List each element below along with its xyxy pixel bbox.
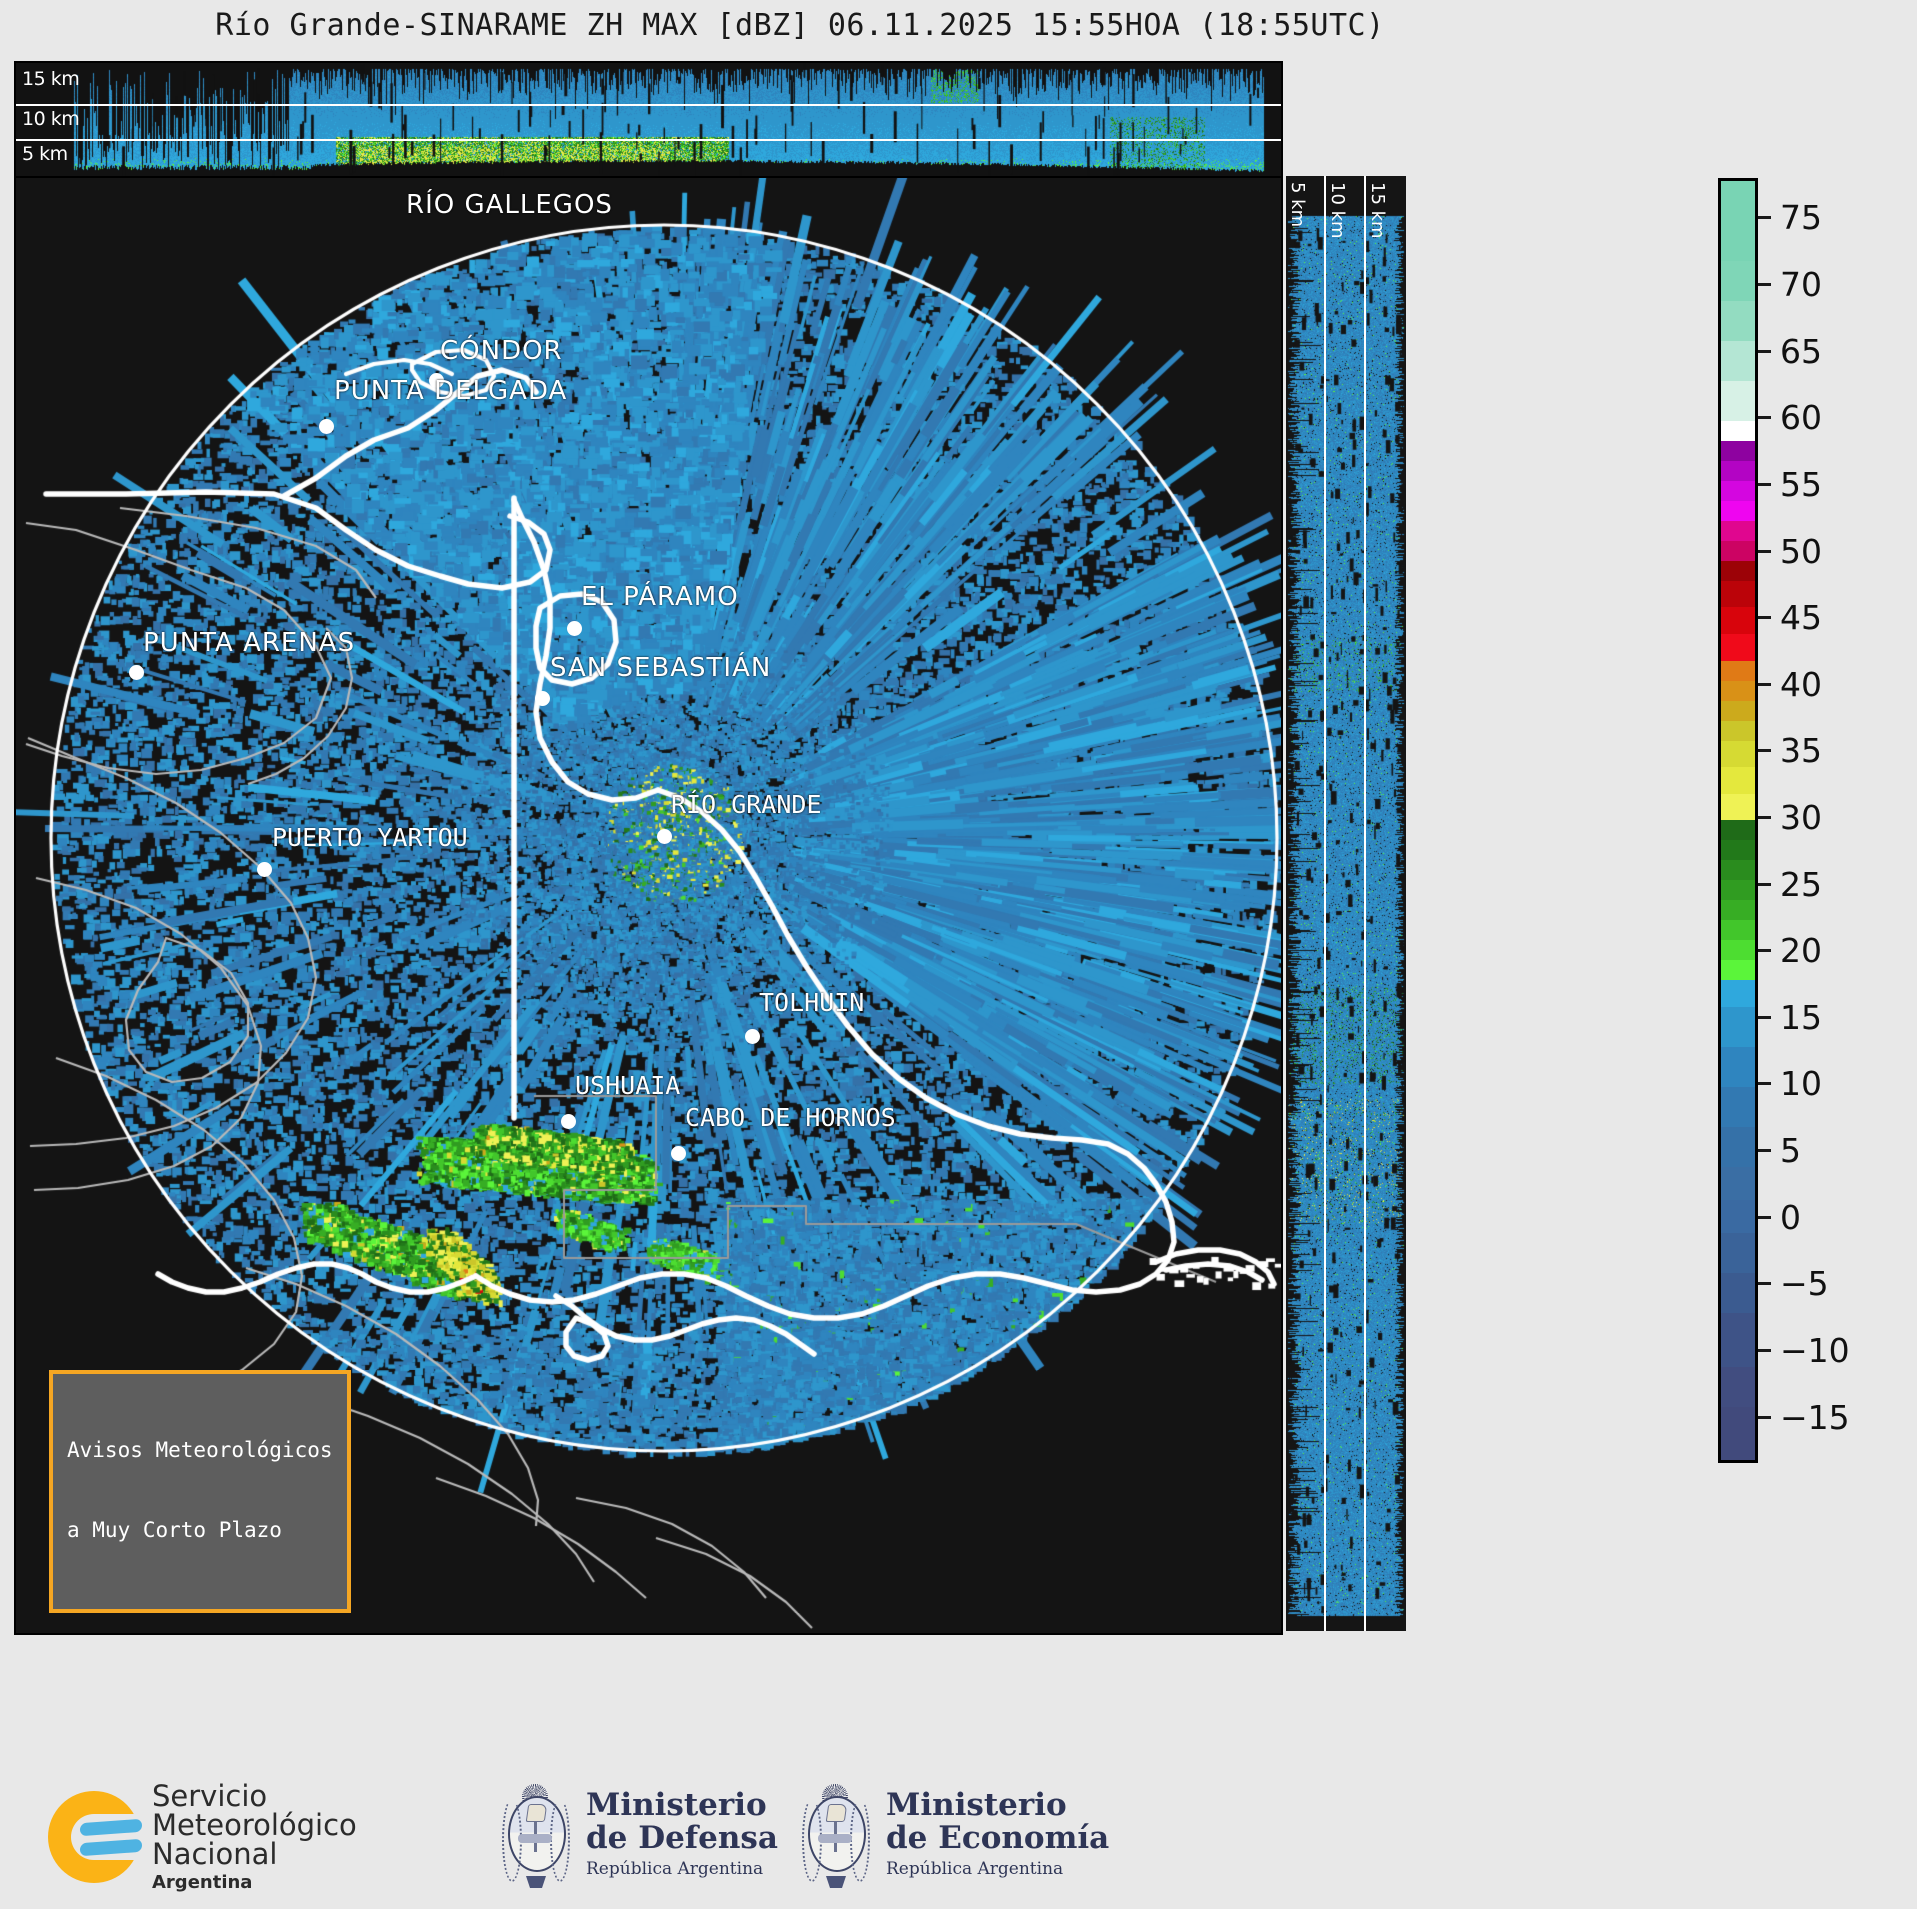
colorbar-segment bbox=[1721, 900, 1755, 920]
colorbar-segment bbox=[1721, 581, 1755, 608]
argentina-coat-of-arms-icon bbox=[800, 1778, 872, 1890]
colorbar-segment bbox=[1721, 980, 1755, 1007]
city-marker-dot bbox=[319, 419, 334, 434]
colorbar-segment bbox=[1721, 820, 1755, 840]
colorbar-segment bbox=[1721, 940, 1755, 960]
colorbar-segment bbox=[1721, 521, 1755, 541]
economia-sub: República Argentina bbox=[886, 1861, 1109, 1879]
colorbar bbox=[1718, 178, 1758, 1463]
strip-gridline-1 bbox=[1324, 176, 1326, 1631]
city-marker-dot bbox=[671, 1146, 686, 1161]
colorbar-segment bbox=[1721, 1007, 1755, 1047]
city-marker-dot bbox=[561, 1114, 576, 1129]
colorbar-segment bbox=[1721, 1047, 1755, 1087]
smn-logo-icon bbox=[48, 1791, 140, 1883]
logo-ministerio-de-defensa: Ministerio de Defensa República Argentin… bbox=[500, 1778, 778, 1890]
colorbar-segment bbox=[1721, 1367, 1755, 1407]
colorbar-segment bbox=[1721, 561, 1755, 581]
colorbar-segment bbox=[1721, 741, 1755, 768]
colorbar-segment bbox=[1721, 481, 1755, 501]
colorbar-segment bbox=[1721, 501, 1755, 521]
colorbar-segment bbox=[1721, 840, 1755, 860]
colorbar-segment bbox=[1721, 960, 1755, 980]
strip-gridline-2 bbox=[1364, 176, 1366, 1631]
page-title: Río Grande-SINARAME ZH MAX [dBZ] 06.11.2… bbox=[0, 8, 1600, 43]
logo-servicio-meteorologico-nacional: Servicio Meteorológico Nacional Argentin… bbox=[48, 1782, 357, 1892]
colorbar-segment bbox=[1721, 1087, 1755, 1127]
colorbar-segment bbox=[1721, 1313, 1755, 1366]
vertical-cross-section-canvas bbox=[1286, 176, 1406, 1631]
gridline-10km bbox=[16, 104, 1281, 106]
economia-logo-text: Ministerio de Economía República Argenti… bbox=[886, 1789, 1109, 1879]
city-marker-dot bbox=[535, 691, 550, 706]
city-marker-dot bbox=[657, 829, 672, 844]
defensa-line-2: de Defensa bbox=[586, 1822, 778, 1855]
smn-line-2: Meteorológico bbox=[152, 1811, 357, 1840]
gridline-5km bbox=[16, 139, 1281, 141]
colorbar-segment bbox=[1721, 541, 1755, 561]
colorbar-segment bbox=[1721, 920, 1755, 940]
colorbar-tick-labels: 757065605550454035302520151050−5−10−15 bbox=[1758, 178, 1908, 1463]
footer-logos: Servicio Meteorológico Nacional Argentin… bbox=[0, 1770, 1600, 1909]
warning-badge: Avisos Meteorológicos a Muy Corto Plazo bbox=[49, 1370, 351, 1613]
defensa-logo-text: Ministerio de Defensa República Argentin… bbox=[586, 1789, 778, 1879]
colorbar-segment bbox=[1721, 767, 1755, 794]
city-marker-dot bbox=[745, 1029, 760, 1044]
city-marker-dot bbox=[257, 862, 272, 877]
colorbar-segment bbox=[1721, 421, 1755, 441]
height-label-10km: 10 km bbox=[22, 108, 79, 130]
colorbar-segment bbox=[1721, 880, 1755, 900]
colorbar-segment bbox=[1721, 1200, 1755, 1233]
colorbar-segment bbox=[1721, 341, 1755, 381]
colorbar-segment bbox=[1721, 661, 1755, 681]
smn-logo-text: Servicio Meteorológico Nacional Argentin… bbox=[152, 1782, 357, 1892]
colorbar-segment bbox=[1721, 860, 1755, 880]
defensa-sub: República Argentina bbox=[586, 1861, 778, 1879]
colorbar-segment bbox=[1721, 461, 1755, 481]
colorbar-segment bbox=[1721, 794, 1755, 821]
smn-line-1: Servicio bbox=[152, 1782, 357, 1811]
cross-section-panel-right: 5 km 10 km 15 km bbox=[1286, 176, 1406, 1631]
economia-line-2: de Economía bbox=[886, 1822, 1109, 1855]
colorbar-segment bbox=[1721, 1407, 1755, 1460]
strip-label-15km: 15 km bbox=[1367, 182, 1388, 239]
economia-line-1: Ministerio bbox=[886, 1789, 1109, 1822]
warning-line-1: Avisos Meteorológicos bbox=[67, 1437, 333, 1464]
colorbar-segment bbox=[1721, 1273, 1755, 1313]
city-marker-dot bbox=[567, 621, 582, 636]
height-label-15km: 15 km bbox=[22, 68, 79, 90]
logo-ministerio-de-economia: Ministerio de Economía República Argenti… bbox=[800, 1778, 1109, 1890]
colorbar-segment bbox=[1721, 607, 1755, 634]
colorbar-segment bbox=[1721, 261, 1755, 301]
cross-section-canvas bbox=[16, 63, 1281, 176]
colorbar-segment bbox=[1721, 181, 1755, 261]
defensa-line-1: Ministerio bbox=[586, 1789, 778, 1822]
colorbar-segment bbox=[1721, 1233, 1755, 1273]
colorbar-segment bbox=[1721, 1167, 1755, 1200]
city-marker-dot bbox=[429, 373, 444, 388]
strip-label-10km: 10 km bbox=[1327, 182, 1348, 239]
smn-line-3: Nacional bbox=[152, 1840, 357, 1869]
colorbar-segment bbox=[1721, 301, 1755, 341]
radar-ppi-map[interactable]: RÍO GALLEGOSCÓNDORPUNTA DELGADAPUNTA ARE… bbox=[14, 176, 1283, 1635]
city-marker-dot bbox=[129, 665, 144, 680]
colorbar-segment bbox=[1721, 721, 1755, 741]
colorbar-segment bbox=[1721, 634, 1755, 661]
warning-line-2: a Muy Corto Plazo bbox=[67, 1517, 333, 1544]
colorbar-segment bbox=[1721, 441, 1755, 461]
argentina-coat-of-arms-icon bbox=[500, 1778, 572, 1890]
colorbar-segment bbox=[1721, 1127, 1755, 1167]
smn-sub: Argentina bbox=[152, 1874, 357, 1892]
colorbar-segment bbox=[1721, 381, 1755, 421]
strip-label-5km: 5 km bbox=[1287, 182, 1308, 227]
colorbar-segment bbox=[1721, 681, 1755, 701]
cross-section-panel-top: 15 km 10 km 5 km bbox=[14, 61, 1283, 178]
height-label-5km: 5 km bbox=[22, 143, 68, 165]
colorbar-segment bbox=[1721, 701, 1755, 721]
